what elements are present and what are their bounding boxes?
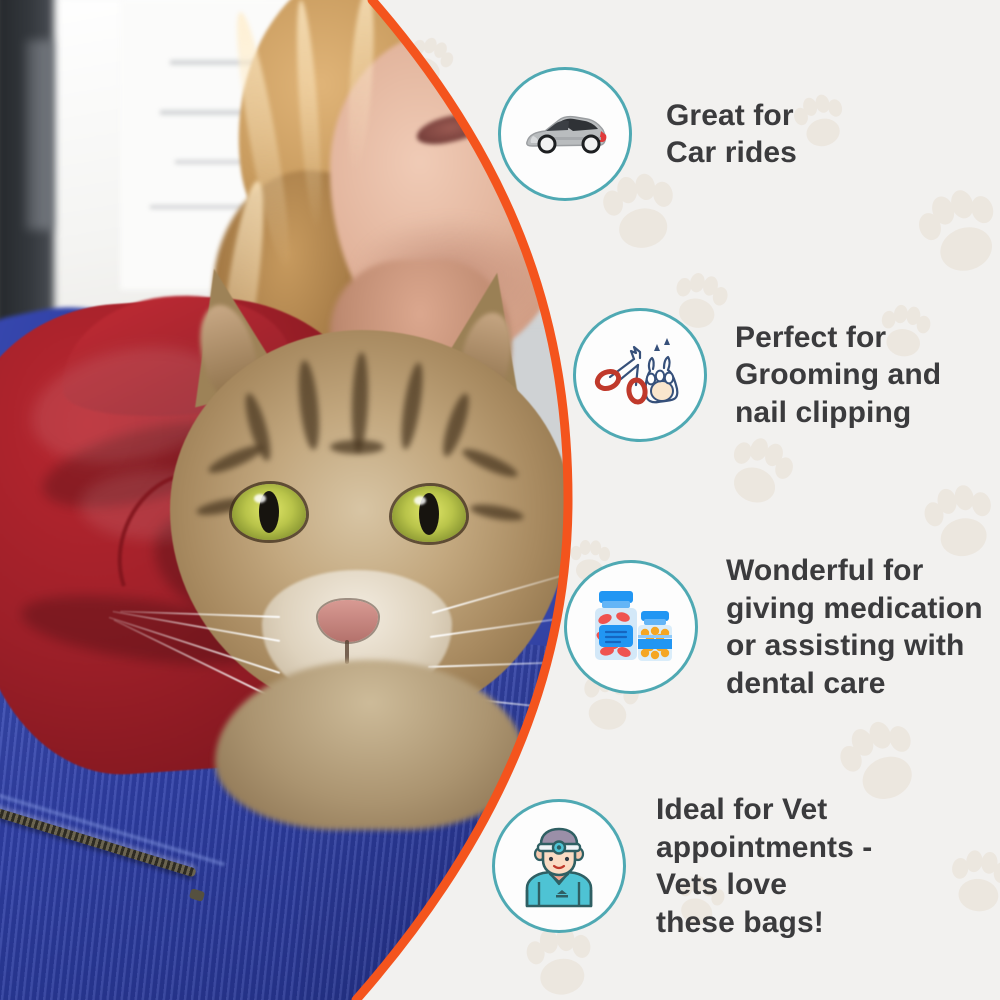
feature-item-vet[interactable]: Ideal for Vet appointments - Vets love t… xyxy=(492,791,872,941)
feature-label: Ideal for Vet appointments - Vets love t… xyxy=(656,791,872,941)
feature-list: Great for Car rides xyxy=(0,0,1000,1000)
car-icon xyxy=(498,67,632,201)
nail-clippers-paw-icon xyxy=(573,308,707,442)
feature-item-grooming[interactable]: Perfect for Grooming and nail clipping xyxy=(573,308,941,442)
infographic-canvas: Great for Car rides xyxy=(0,0,1000,1000)
veterinarian-icon xyxy=(492,799,626,933)
feature-label: Wonderful for giving medication or assis… xyxy=(726,552,983,702)
feature-label: Perfect for Grooming and nail clipping xyxy=(735,319,941,432)
feature-item-car-rides[interactable]: Great for Car rides xyxy=(498,67,797,201)
feature-item-medication[interactable]: Wonderful for giving medication or assis… xyxy=(564,552,983,702)
medicine-bottles-icon xyxy=(564,560,698,694)
feature-label: Great for Car rides xyxy=(666,97,797,172)
